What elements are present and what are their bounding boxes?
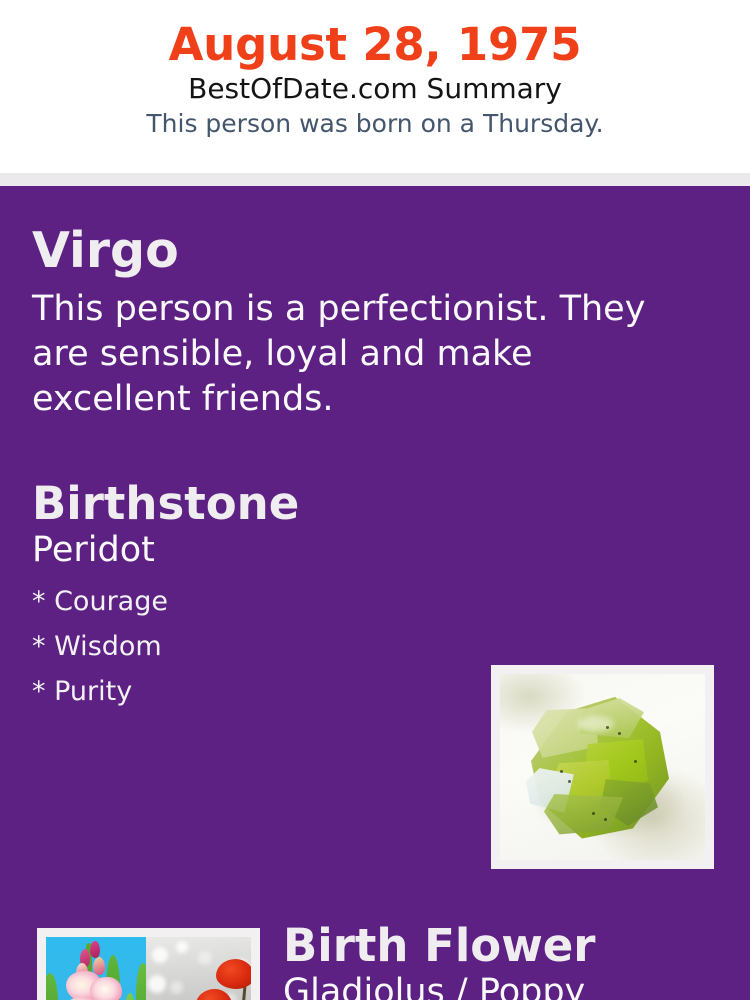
birthstone-image [491, 665, 714, 869]
birth-flower-title: Birth Flower [283, 923, 723, 968]
birthstone-section: Birthstone Peridot * Courage * Wisdom * … [32, 481, 462, 714]
leaf [124, 993, 136, 1000]
gem-inclusion [606, 726, 609, 729]
birthstone-title: Birthstone [32, 481, 462, 526]
summary-page: August 28, 1975 BestOfDate.com Summary T… [0, 0, 750, 1000]
peridot-crystal-graphic [522, 694, 672, 840]
poppy-bloom [216, 959, 251, 989]
list-item: * Wisdom [32, 624, 462, 669]
page-header: August 28, 1975 BestOfDate.com Summary T… [0, 0, 750, 173]
zodiac-sign-name: Virgo [32, 226, 672, 275]
birthstone-name: Peridot [32, 526, 462, 569]
bokeh-light [170, 981, 183, 994]
gem-inclusion [592, 812, 595, 815]
gem-inclusion [618, 732, 621, 735]
list-item: * Courage [32, 579, 462, 624]
content-panel: Virgo This person is a perfectionist. Th… [0, 186, 750, 1000]
birthstone-trait-list: * Courage * Wisdom * Purity [32, 569, 462, 714]
bokeh-light [152, 947, 168, 963]
birth-flower-section: Birth Flower Gladiolus / Poppy * Strengt… [283, 923, 723, 1000]
poppy-photo-half [146, 937, 251, 1000]
leaf [136, 963, 146, 1000]
birthstone-photo-inner [500, 674, 705, 860]
gladiolus-bloom [90, 977, 122, 1000]
gladiolus-photo-half [46, 937, 146, 1000]
weekday-statement: This person was born on a Thursday. [0, 105, 750, 138]
bokeh-light [148, 975, 166, 993]
birth-date-title: August 28, 1975 [0, 0, 750, 68]
site-name-subtitle: BestOfDate.com Summary [0, 68, 750, 105]
gem-inclusion [568, 780, 571, 783]
poppy-bloom [196, 989, 232, 1000]
bokeh-light [176, 941, 188, 953]
birth-flower-photo-inner [46, 937, 251, 1000]
leaf [46, 973, 58, 1000]
zodiac-section: Virgo This person is a perfectionist. Th… [32, 226, 672, 421]
gem-inclusion [634, 760, 637, 763]
birth-flower-name: Gladiolus / Poppy [283, 968, 723, 1000]
flower-bud [93, 957, 105, 975]
list-item: * Purity [32, 669, 462, 714]
gem-inclusion [604, 818, 607, 821]
birth-flower-image [37, 928, 260, 1000]
header-divider [0, 173, 750, 186]
flower-bud [90, 941, 100, 958]
zodiac-description: This person is a perfectionist. They are… [32, 275, 672, 421]
gem-highlight [578, 716, 614, 732]
gem-inclusion [560, 770, 563, 773]
bokeh-light [198, 951, 212, 965]
